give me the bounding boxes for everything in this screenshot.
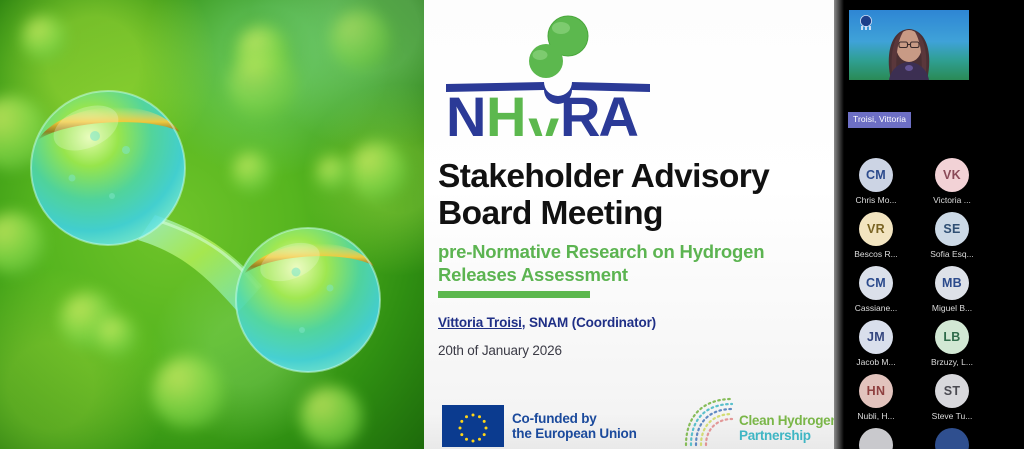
participant-avatar: CM (859, 158, 893, 192)
participant-name: Nubli, H... (846, 411, 906, 421)
svg-text:H: H (486, 85, 524, 136)
participant-name: Jacob M... (846, 357, 906, 367)
speaker-credit: Vittoria Troisi, SNAM (Coordinator) (438, 315, 656, 330)
participant-avatar: MB (935, 266, 969, 300)
clean-hydrogen-partnership-logo: Clean Hydrogen Partnership (682, 395, 834, 449)
speaker-name: Vittoria Troisi (438, 315, 522, 330)
h2-molecule-icon (0, 0, 424, 449)
participant-tile[interactable]: VKVictoria ... (922, 158, 982, 212)
video-conference-screen: N H y RA Stakeholder Advisory Board Meet… (0, 0, 1024, 449)
participant-name: Bescos R... (846, 249, 906, 259)
chp-swirl-icon (682, 395, 736, 449)
participant-avatar: VR (859, 212, 893, 246)
participant-tile[interactable]: CMChris Mo... (846, 158, 906, 212)
speaker-affiliation: , SNAM (Coordinator) (522, 315, 656, 330)
nhyra-logo: N H y RA (440, 14, 656, 136)
participant-tile[interactable]: CMCassiane... (846, 266, 906, 320)
participant-name: Sofia Esq... (922, 249, 982, 259)
participant-tile[interactable] (922, 428, 982, 449)
eu-flag-icon (442, 405, 504, 447)
participant-tile[interactable] (846, 428, 906, 449)
participant-avatar: HN (859, 374, 893, 408)
participant-name: Brzuzy, L... (922, 357, 982, 367)
participant-avatar: JM (859, 320, 893, 354)
participant-avatar: LB (935, 320, 969, 354)
participant-avatar: VK (935, 158, 969, 192)
participant-name: Steve Tu... (922, 411, 982, 421)
participant-tile[interactable]: JMJacob M... (846, 320, 906, 374)
eu-funding-line-2: the European Union (512, 426, 637, 442)
slide-subtitle: pre-Normative Research on Hydrogen Relea… (438, 240, 828, 286)
slide-title-line-1: Stakeholder Advisory (438, 158, 830, 195)
participant-avatar: SE (935, 212, 969, 246)
participant-tile[interactable]: LBBrzuzy, L... (922, 320, 982, 374)
slide-subtitle-line-2: Releases Assessment (438, 263, 828, 286)
participant-avatar: ST (935, 374, 969, 408)
green-divider (438, 291, 590, 298)
participant-name: Cassiane... (846, 303, 906, 313)
participant-tile[interactable]: SESofia Esq... (922, 212, 982, 266)
rail-edge-shadow (834, 0, 844, 449)
participant-avatar (935, 428, 969, 449)
slide-title: Stakeholder Advisory Board Meeting (438, 158, 830, 232)
participant-avatar (859, 428, 893, 449)
participant-name: Chris Mo... (846, 195, 906, 205)
slide-subtitle-line-1: pre-Normative Research on Hydrogen (438, 240, 828, 263)
svg-text:N: N (446, 85, 484, 136)
eu-funding-line-1: Co-funded by (512, 411, 637, 427)
self-view-watermark-icon (857, 15, 875, 31)
participant-grid[interactable]: CMChris Mo...VKVictoria ...VRBescos R...… (846, 158, 1024, 449)
chp-line-2: Partnership (739, 428, 834, 443)
self-view-tile[interactable] (849, 10, 969, 80)
svg-text:RA: RA (560, 85, 637, 136)
eu-funding-text: Co-funded by the European Union (512, 411, 637, 442)
participant-tile[interactable]: HNNubli, H... (846, 374, 906, 428)
participant-rail[interactable]: Troisi, Vittoria CMChris Mo...VKVictoria… (834, 0, 1024, 449)
funder-logos: Co-funded by the European Union (424, 395, 834, 449)
hydrogen-molecule-image (0, 0, 424, 449)
slide-title-line-2: Board Meeting (438, 195, 830, 232)
participant-tile[interactable]: MBMiguel B... (922, 266, 982, 320)
participant-tile[interactable]: VRBescos R... (846, 212, 906, 266)
svg-text:y: y (528, 97, 559, 136)
participant-name: Victoria ... (922, 195, 982, 205)
participant-tile[interactable]: STSteve Tu... (922, 374, 982, 428)
eu-funding-logo: Co-funded by the European Union (442, 405, 637, 447)
meeting-date: 20th of January 2026 (438, 343, 562, 358)
participant-name: Miguel B... (922, 303, 982, 313)
participant-avatar: CM (859, 266, 893, 300)
self-view-name-label: Troisi, Vittoria (848, 112, 911, 128)
chp-line-1: Clean Hydrogen (739, 413, 834, 428)
shared-slide: N H y RA Stakeholder Advisory Board Meet… (424, 0, 834, 449)
chp-logo-text: Clean Hydrogen Partnership (739, 413, 834, 449)
